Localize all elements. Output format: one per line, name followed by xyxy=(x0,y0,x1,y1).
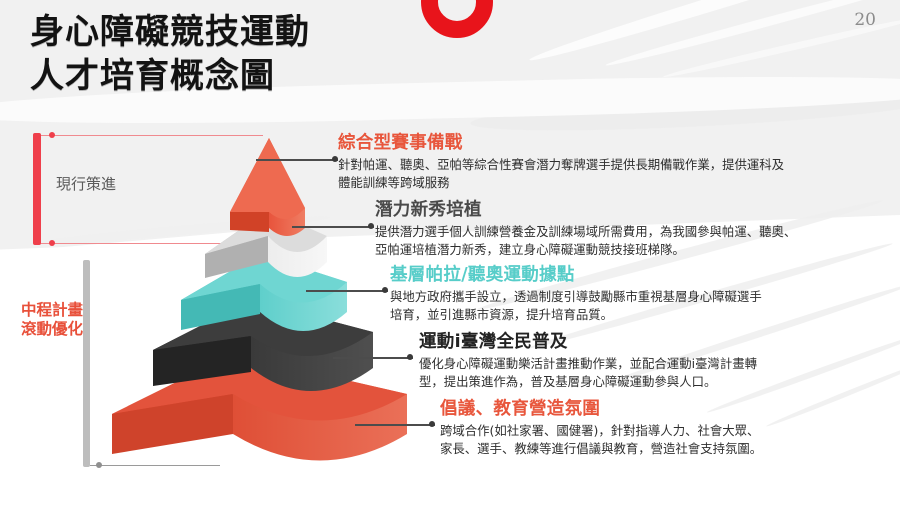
page-title-line2: 人才培育概念圖 xyxy=(30,54,310,98)
page-number: 20 xyxy=(854,10,876,30)
block-body-1: 針對帕運、聽奧、亞帕等綜合性賽會潛力奪牌選手提供長期備戰作業，提供運科及 體能訓… xyxy=(338,156,784,191)
block-heading-3: 基層帕拉/聽奧運動據點 xyxy=(390,265,762,286)
block-body-3: 與地方政府攜手設立，透過制度引導鼓勵縣市重視基層身心障礙選手 培育，並引進縣市資… xyxy=(390,288,762,323)
block-heading-4: 運動i臺灣全民普及 xyxy=(419,332,757,353)
block-heading-2: 潛力新秀培植 xyxy=(375,200,796,221)
text-block-1: 綜合型賽事備戰 針對帕運、聽奧、亞帕等綜合性賽會潛力奪牌選手提供長期備戰作業，提… xyxy=(338,133,784,191)
block-heading-1: 綜合型賽事備戰 xyxy=(338,133,784,154)
bracket-bar-red xyxy=(33,133,41,245)
brush-stroke-decoration xyxy=(527,0,900,67)
slide-canvas: 20 身心障礙競技運動 人才培育概念圖 現行策進 中程計畫 滾動優化 xyxy=(0,0,900,506)
block-heading-5: 倡議、教育營造氛圍 xyxy=(440,399,762,420)
text-block-5: 倡議、教育營造氛圍 跨域合作(如社家署、國健署)，針對指導人力、社會大眾、 家長… xyxy=(440,399,762,457)
block-body-2: 提供潛力選手個人訓練營養金及訓練場域所需費用，為我國參與帕運、聽奧、 亞帕運培植… xyxy=(375,223,796,258)
page-title: 身心障礙競技運動 人才培育概念圖 xyxy=(30,10,310,98)
text-block-4: 運動i臺灣全民普及 優化身心障礙運動樂活計畫推動作業，並配合運動i臺灣計畫轉 型… xyxy=(419,332,757,390)
pyramid-layer-1 xyxy=(230,138,305,236)
red-ring-decoration xyxy=(421,0,493,38)
block-body-5: 跨域合作(如社家署、國健署)，針對指導人力、社會大眾、 家長、選手、教練等進行倡… xyxy=(440,422,762,457)
gray-band-decoration xyxy=(470,84,900,139)
block-body-4: 優化身心障礙運動樂活計畫推動作業，並配合運動i臺灣計畫轉 型，提出策進作為，普及… xyxy=(419,355,757,390)
brush-streak-decoration xyxy=(765,360,900,428)
text-block-2: 潛力新秀培植 提供潛力選手個人訓練營養金及訓練場域所需費用，為我國參與帕運、聽奧… xyxy=(375,200,796,258)
page-title-line1: 身心障礙競技運動 xyxy=(30,10,310,54)
text-block-3: 基層帕拉/聽奧運動據點 與地方政府攜手設立，透過制度引導鼓勵縣市重視基層身心障礙… xyxy=(390,265,762,323)
